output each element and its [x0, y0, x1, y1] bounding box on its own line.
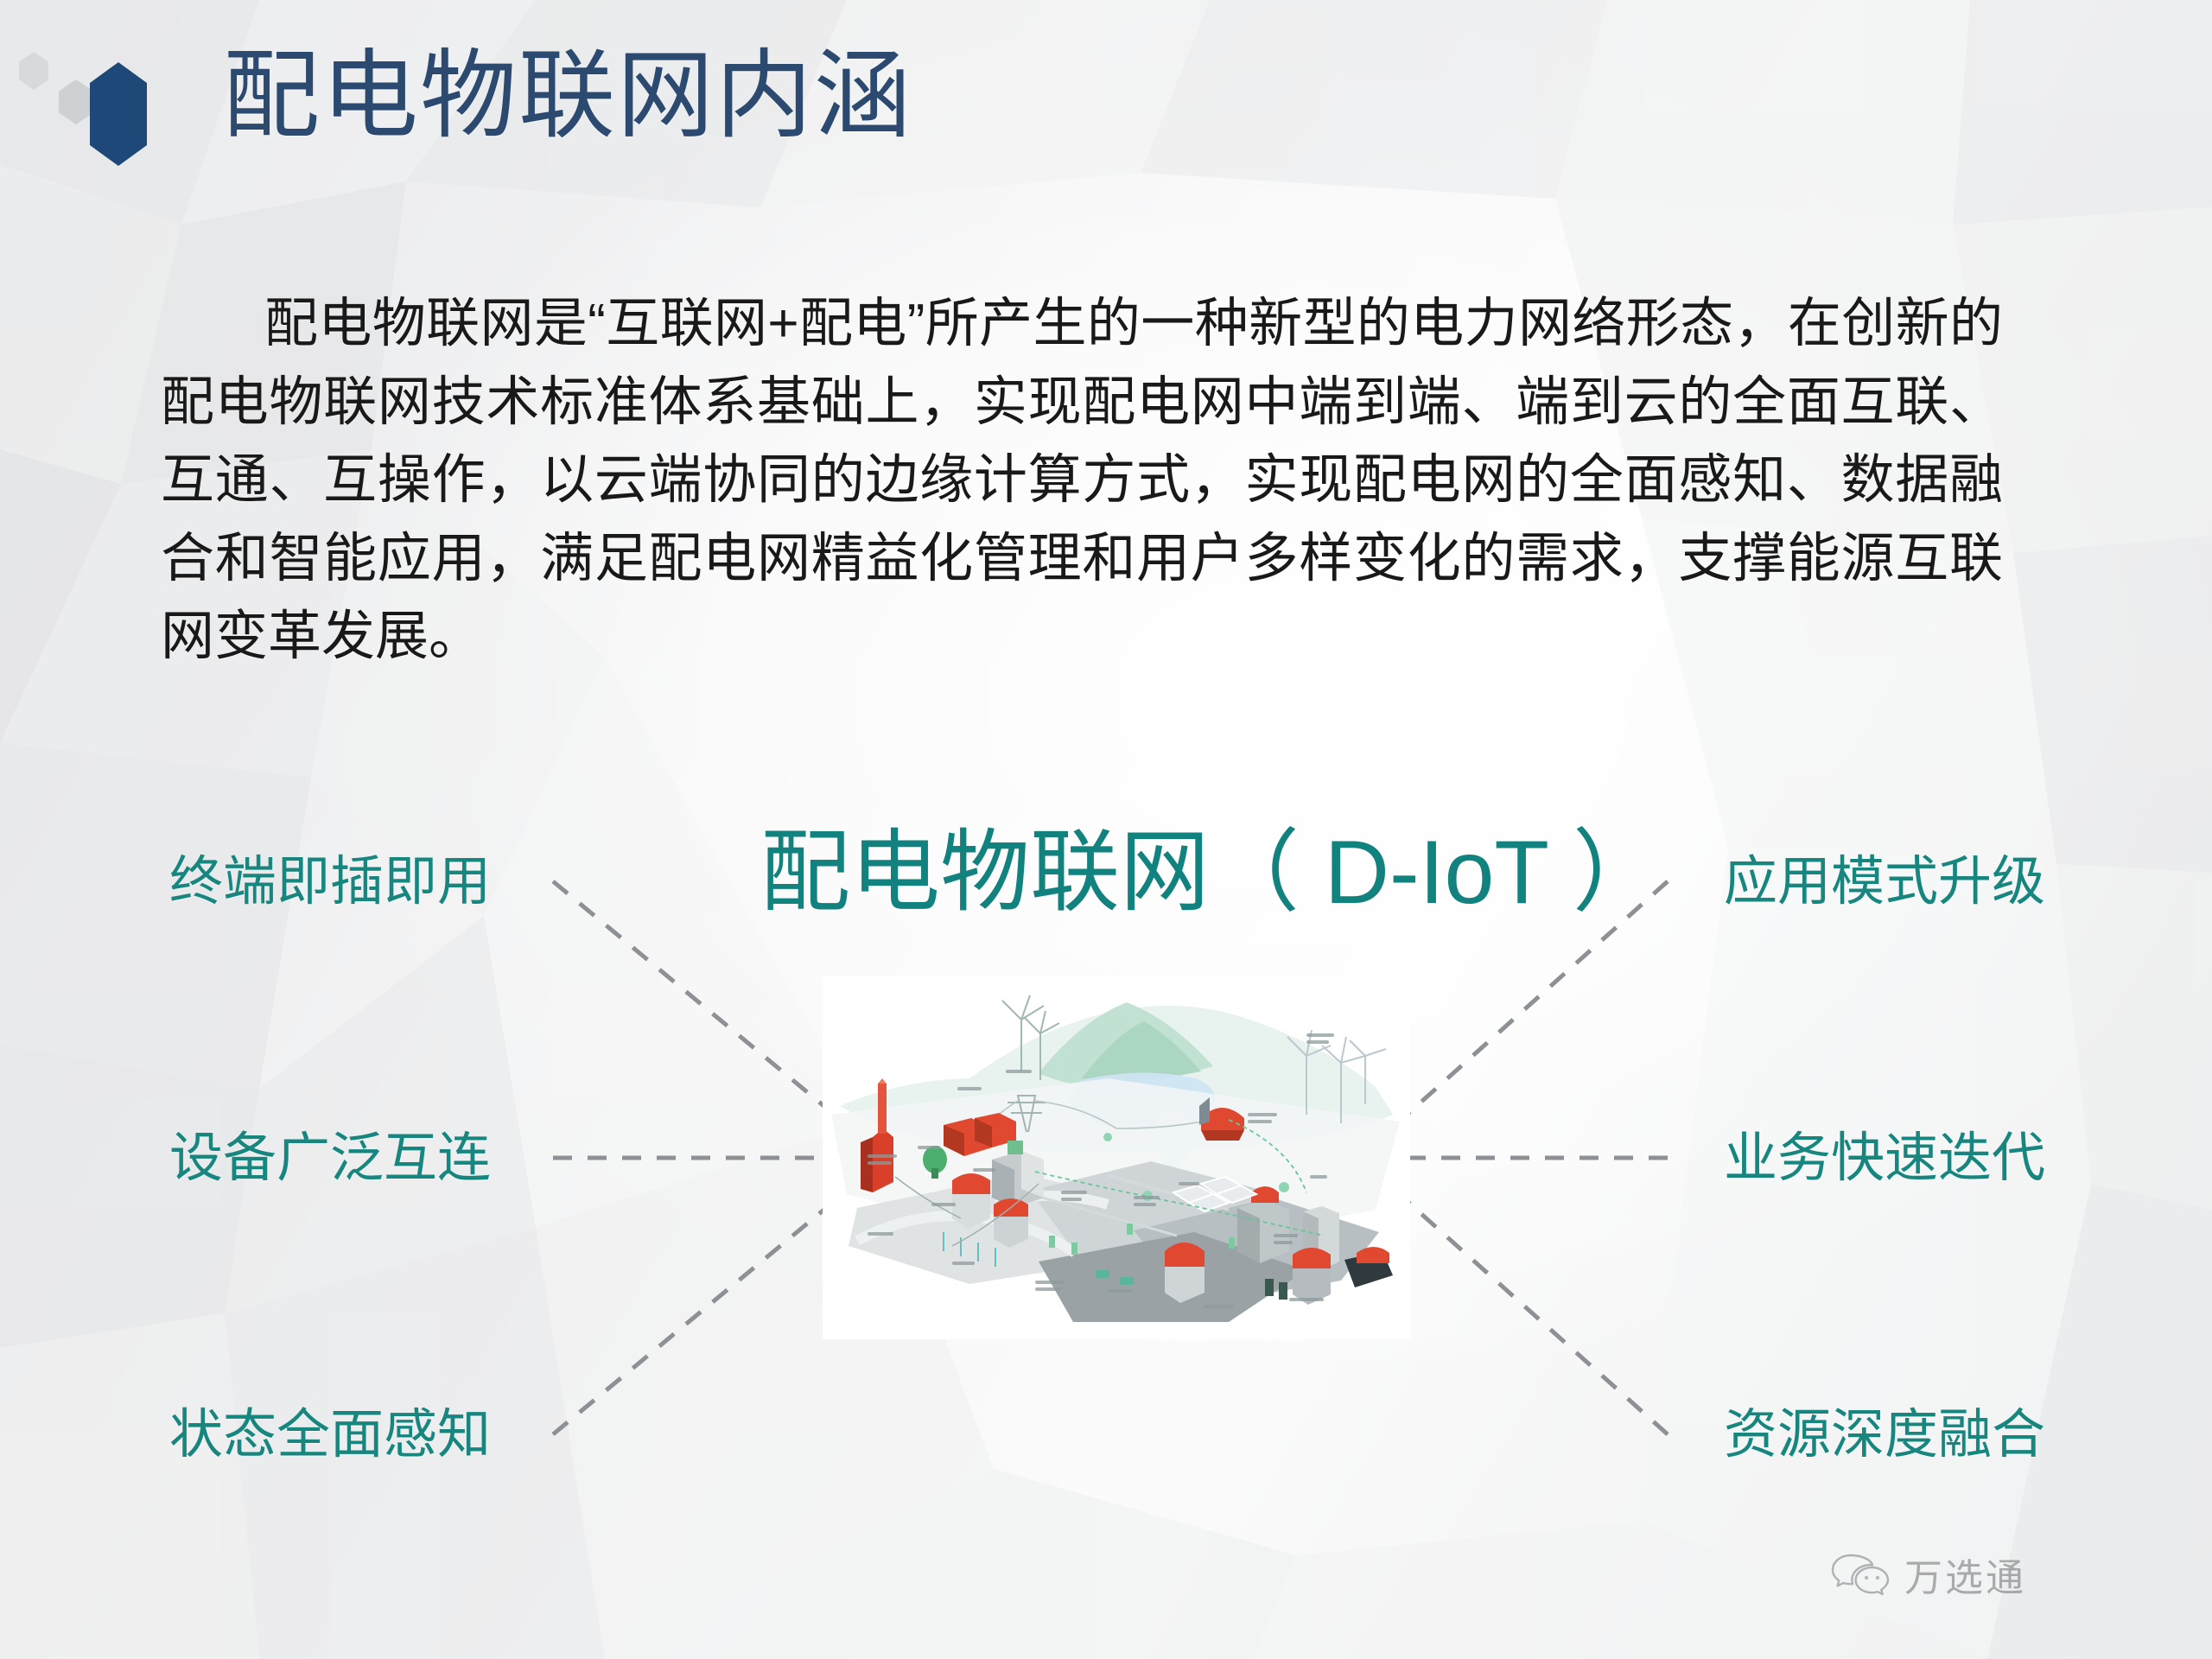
hexagon-bullet-icon	[90, 62, 147, 166]
diagram-center-title: 配电物联网（ D-IoT ）	[760, 828, 1662, 918]
hexagon-decor-small-1	[19, 52, 48, 90]
body-paragraph: 配电物联网是“互联网+配电”所产生的一种新型的电力网络形态，在创新的配电物联网技…	[161, 285, 2003, 677]
watermark: 万选通	[1830, 1547, 2026, 1602]
wechat-icon	[1830, 1550, 1891, 1599]
diagram-label-left-1: 终端即插即用	[169, 855, 491, 909]
diagram-label-right-2: 业务快速迭代	[1724, 1132, 2045, 1185]
slide-canvas: 配电物联网内涵 配电物联网是“互联网+配电”所产生的一种新型的电力网络形态，在创…	[0, 0, 2212, 1659]
watermark-text: 万选通	[1904, 1547, 2026, 1602]
diagram-label-left-2: 设备广泛互连	[169, 1132, 491, 1185]
diagram-label-right-1: 应用模式升级	[1724, 855, 2045, 909]
page-title: 配电物联网内涵	[223, 41, 912, 149]
diagram-label-left-3: 状态全面感知	[169, 1408, 491, 1462]
radial-diagram: 配电物联网（ D-IoT ）	[0, 812, 2212, 1538]
slide-header: 配电物联网内涵	[0, 0, 2212, 199]
smart-grid-illustration	[823, 976, 1410, 1339]
hexagon-decor-small-2	[59, 79, 93, 124]
diagram-label-right-3: 资源深度融合	[1724, 1408, 2045, 1462]
